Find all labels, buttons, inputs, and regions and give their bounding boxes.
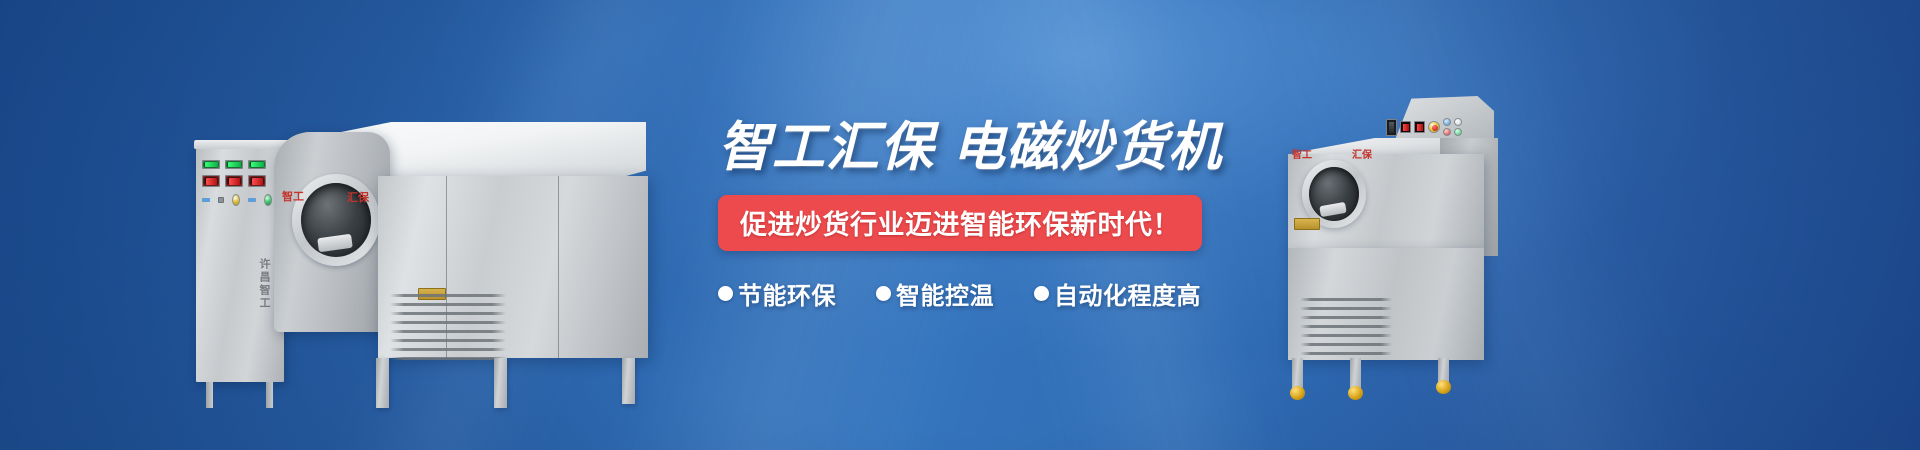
feature-label: 自动化程度高: [1054, 276, 1201, 311]
machine-legs: [374, 358, 650, 408]
green-display-icon: [225, 160, 243, 169]
feature-bullet-1: 节能环保: [718, 276, 836, 311]
headline-part-2: 电磁炒货机: [952, 118, 1222, 177]
feature-label: 智能控温: [896, 276, 994, 311]
panel-label-tag: [202, 198, 210, 202]
white-button-icon: [1454, 118, 1462, 126]
ventilation-louvers: [1300, 296, 1392, 362]
brand-text-right: 汇保: [347, 189, 369, 205]
toggle-switch-icon: [218, 197, 224, 203]
control-panel: [202, 160, 272, 226]
red-display-icon: [248, 175, 266, 187]
button-cluster: [1443, 118, 1462, 136]
banner-copy-block: 智工汇保电磁炒货机 促进炒货行业迈进智能环保新时代！ 节能环保 智能控温 自动化…: [718, 120, 1258, 311]
knob-row: [202, 194, 272, 206]
panel-label-tag: [248, 198, 256, 202]
green-display-row: [202, 160, 272, 169]
drum-opening: [292, 174, 380, 266]
headline-part-1: 智工汇保: [718, 118, 934, 177]
caster-wheel-icon: [1438, 358, 1449, 382]
caster-wheels: [1288, 358, 1488, 406]
red-button-icon: [1443, 128, 1451, 136]
red-display-icon: [202, 175, 220, 187]
blue-button-icon: [1443, 118, 1451, 126]
product-image-roasting-machine-vertical: 智工 汇保: [1288, 96, 1512, 416]
caster-wheel-icon: [1292, 358, 1303, 388]
nameplate: [1294, 218, 1320, 230]
ventilation-louvers: [390, 292, 506, 364]
caster-wheel-icon: [1350, 358, 1361, 388]
green-button-icon: [1454, 128, 1462, 136]
green-display-icon: [202, 160, 220, 169]
filled-circle-icon: [1034, 286, 1049, 301]
emergency-stop-button-icon: [1428, 121, 1440, 133]
brand-text-left: 智工: [282, 188, 304, 204]
control-panel: [1386, 116, 1474, 138]
brand-text-right: 汇保: [1352, 146, 1372, 161]
red-display-icon: [225, 175, 243, 187]
red-display-icon: [1414, 121, 1425, 133]
filled-circle-icon: [718, 286, 733, 301]
filled-circle-icon: [876, 286, 891, 301]
cabinet-legs: [204, 382, 276, 408]
brand-text-left: 智工: [1292, 146, 1312, 161]
banner-headline: 智工汇保电磁炒货机: [718, 120, 1258, 176]
green-indicator-lamp-icon: [264, 194, 272, 206]
product-banner: 许昌智工 智工 汇保: [0, 0, 1920, 450]
emergency-stop-knob-icon: [232, 194, 240, 206]
machine-body: 智工 汇保: [274, 122, 646, 374]
product-image-roasting-machine-horizontal: 许昌智工 智工 汇保: [196, 108, 666, 420]
red-display-icon: [1400, 121, 1411, 133]
slogan-text: 促进炒货行业迈进智能环保新时代！: [740, 210, 1180, 240]
red-display-row: [202, 175, 272, 187]
feature-bullet-list: 节能环保 智能控温 自动化程度高: [718, 276, 1258, 311]
drum-face-panel: 智工 汇保: [274, 132, 390, 332]
feature-bullet-3: 自动化程度高: [1034, 276, 1201, 311]
banner-slogan-badge: 促进炒货行业迈进智能环保新时代！: [718, 195, 1202, 251]
cabinet-brand-label: 许昌智工: [252, 258, 272, 310]
green-display-icon: [248, 160, 266, 169]
dark-display-icon: [1386, 119, 1397, 136]
feature-label: 节能环保: [738, 276, 836, 311]
feature-bullet-2: 智能控温: [876, 276, 994, 311]
